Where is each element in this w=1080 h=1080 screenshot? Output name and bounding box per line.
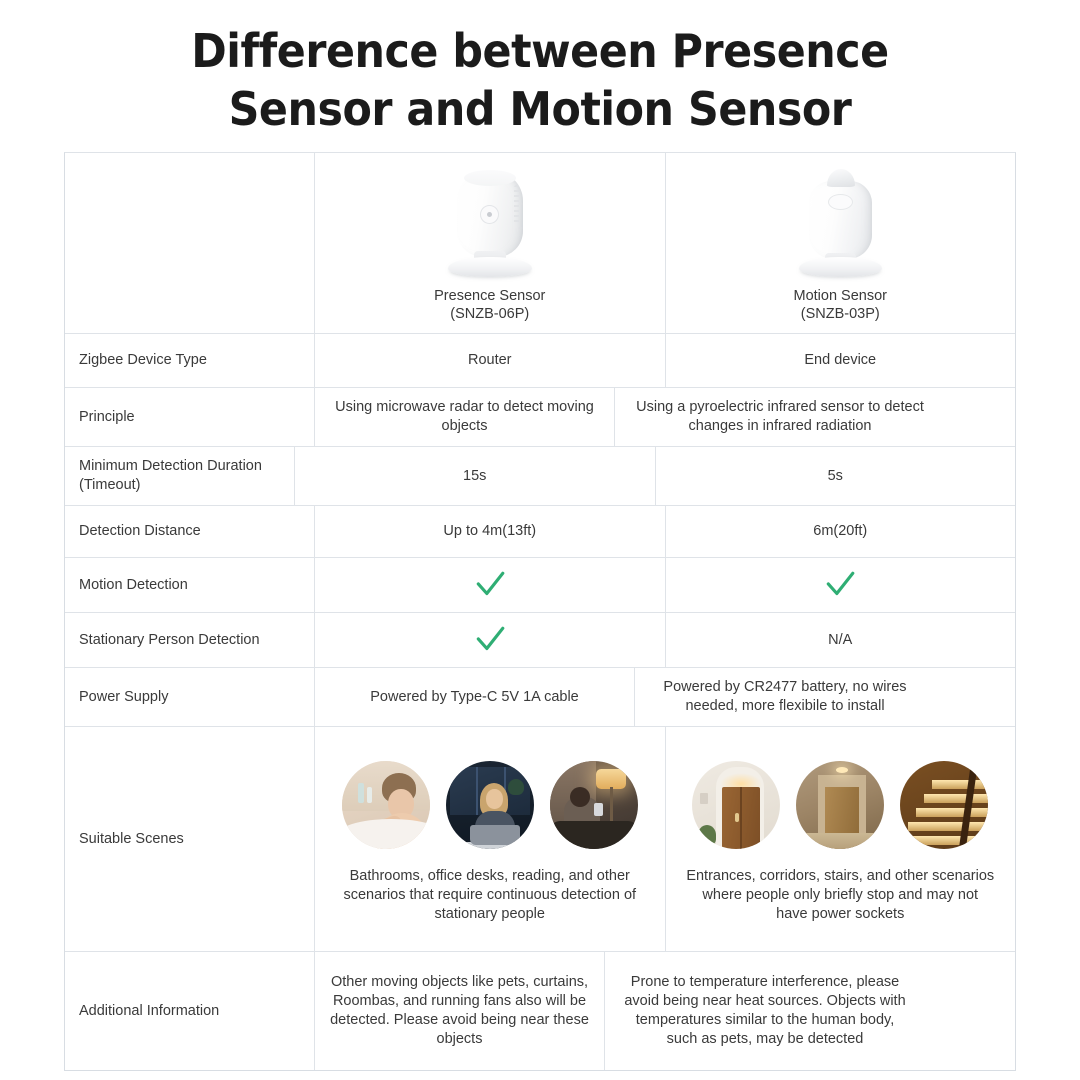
row-label: Minimum Detection Duration (Timeout) (65, 447, 295, 505)
corridor-scene-image (796, 761, 884, 849)
table-row: Motion Detection (65, 558, 1015, 613)
row-value-presence: 15s (295, 447, 656, 505)
motion-device-model: (SNZB-03P) (801, 306, 880, 322)
presence-scenes-caption: Bathrooms, office desks, reading, and ot… (325, 867, 655, 924)
comparison-table: Presence Sensor (SNZB-06P) Motion (64, 152, 1016, 1071)
bathroom-scene-image (342, 761, 430, 849)
header-presence-sensor: Presence Sensor (SNZB-06P) (315, 153, 666, 333)
presence-device-label: Presence Sensor (SNZB-06P) (434, 287, 545, 323)
row-value-presence: Powered by Type-C 5V 1A cable (315, 668, 635, 726)
presence-device-model: (SNZB-06P) (450, 306, 529, 322)
presence-device-name: Presence Sensor (434, 288, 545, 304)
check-icon (823, 568, 857, 602)
motion-sensor-device-icon (780, 169, 900, 279)
stairs-scene-image (900, 761, 988, 849)
row-label: Detection Distance (65, 506, 315, 557)
motion-device-name: Motion Sensor (794, 288, 888, 304)
row-value-motion: 5s (656, 447, 1016, 505)
check-icon (473, 623, 507, 657)
table-row: Stationary Person Detection N/A (65, 613, 1015, 668)
row-label: Stationary Person Detection (65, 613, 315, 667)
row-value-presence: Router (315, 334, 666, 387)
row-label: Zigbee Device Type (65, 334, 315, 387)
row-value-motion: Using a pyroelectric infrared sensor to … (615, 388, 945, 446)
table-row: Additional Information Other moving obje… (65, 952, 1015, 1070)
table-header-row: Presence Sensor (SNZB-06P) Motion (65, 153, 1015, 334)
row-value-motion: Entrances, corridors, stairs, and other … (666, 727, 1016, 951)
row-value-motion: N/A (666, 613, 1016, 667)
motion-scenes-caption: Entrances, corridors, stairs, and other … (676, 867, 1006, 924)
table-row: Power Supply Powered by Type-C 5V 1A cab… (65, 668, 1015, 727)
table-row: Minimum Detection Duration (Timeout) 15s… (65, 447, 1015, 506)
row-value-motion: Prone to temperature interference, pleas… (605, 952, 925, 1070)
presence-sensor-device-icon (430, 169, 550, 279)
row-label: Principle (65, 388, 315, 446)
row-value-motion (666, 558, 1016, 612)
page-title: Difference between Presence Sensor and M… (122, 22, 959, 138)
motion-device-label: Motion Sensor (SNZB-03P) (794, 287, 888, 323)
row-value-presence: Using microwave radar to detect moving o… (315, 388, 615, 446)
row-value-presence (315, 613, 666, 667)
row-label: Power Supply (65, 668, 315, 726)
row-value-presence: Bathrooms, office desks, reading, and ot… (315, 727, 666, 951)
reading-scene-image (550, 761, 638, 849)
row-value-presence: Up to 4m(13ft) (315, 506, 666, 557)
header-motion-sensor: Motion Sensor (SNZB-03P) (666, 153, 1016, 333)
check-icon (473, 568, 507, 602)
comparison-infographic: Difference between Presence Sensor and M… (0, 0, 1080, 1080)
table-row: Detection Distance Up to 4m(13ft) 6m(20f… (65, 506, 1015, 558)
row-value-motion: End device (666, 334, 1016, 387)
table-row-suitable-scenes: Suitable Scenes (65, 727, 1015, 952)
table-row: Zigbee Device Type Router End device (65, 334, 1015, 388)
office-desk-scene-image (446, 761, 534, 849)
row-value-presence (315, 558, 666, 612)
row-value-presence: Other moving objects like pets, curtains… (315, 952, 605, 1070)
row-label: Suitable Scenes (65, 727, 315, 951)
header-empty-cell (65, 153, 315, 333)
entrance-scene-image (692, 761, 780, 849)
row-value-motion: 6m(20ft) (666, 506, 1016, 557)
row-value-motion: Powered by CR2477 battery, no wires need… (635, 668, 935, 726)
table-row: Principle Using microwave radar to detec… (65, 388, 1015, 447)
row-label: Additional Information (65, 952, 315, 1070)
row-label: Motion Detection (65, 558, 315, 612)
